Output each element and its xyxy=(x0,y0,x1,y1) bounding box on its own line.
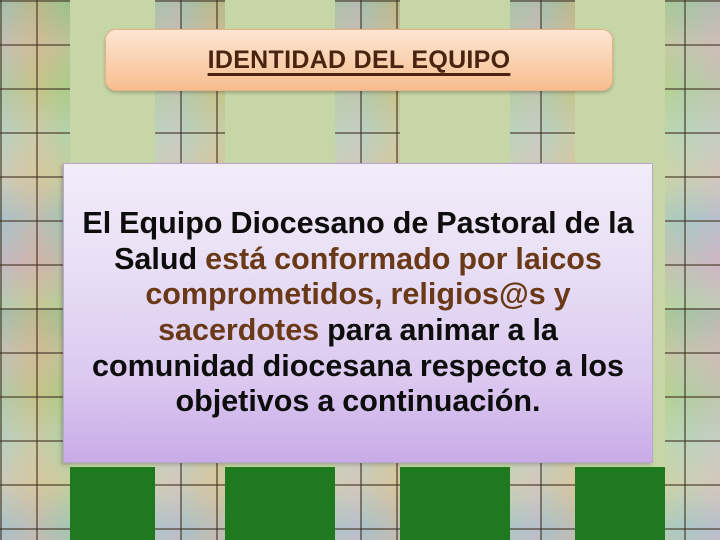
page-title: IDENTIDAD DEL EQUIPO xyxy=(208,46,511,75)
presentation-slide: IDENTIDAD DEL EQUIPO El Equipo Diocesano… xyxy=(0,0,720,540)
slide-body-panel: El Equipo Diocesano de Pastoral de la Sa… xyxy=(63,163,653,463)
background-bottom-green-band xyxy=(0,467,720,540)
body-paragraph: El Equipo Diocesano de Pastoral de la Sa… xyxy=(76,206,640,420)
slide-title-plaque: IDENTIDAD DEL EQUIPO xyxy=(105,29,613,91)
